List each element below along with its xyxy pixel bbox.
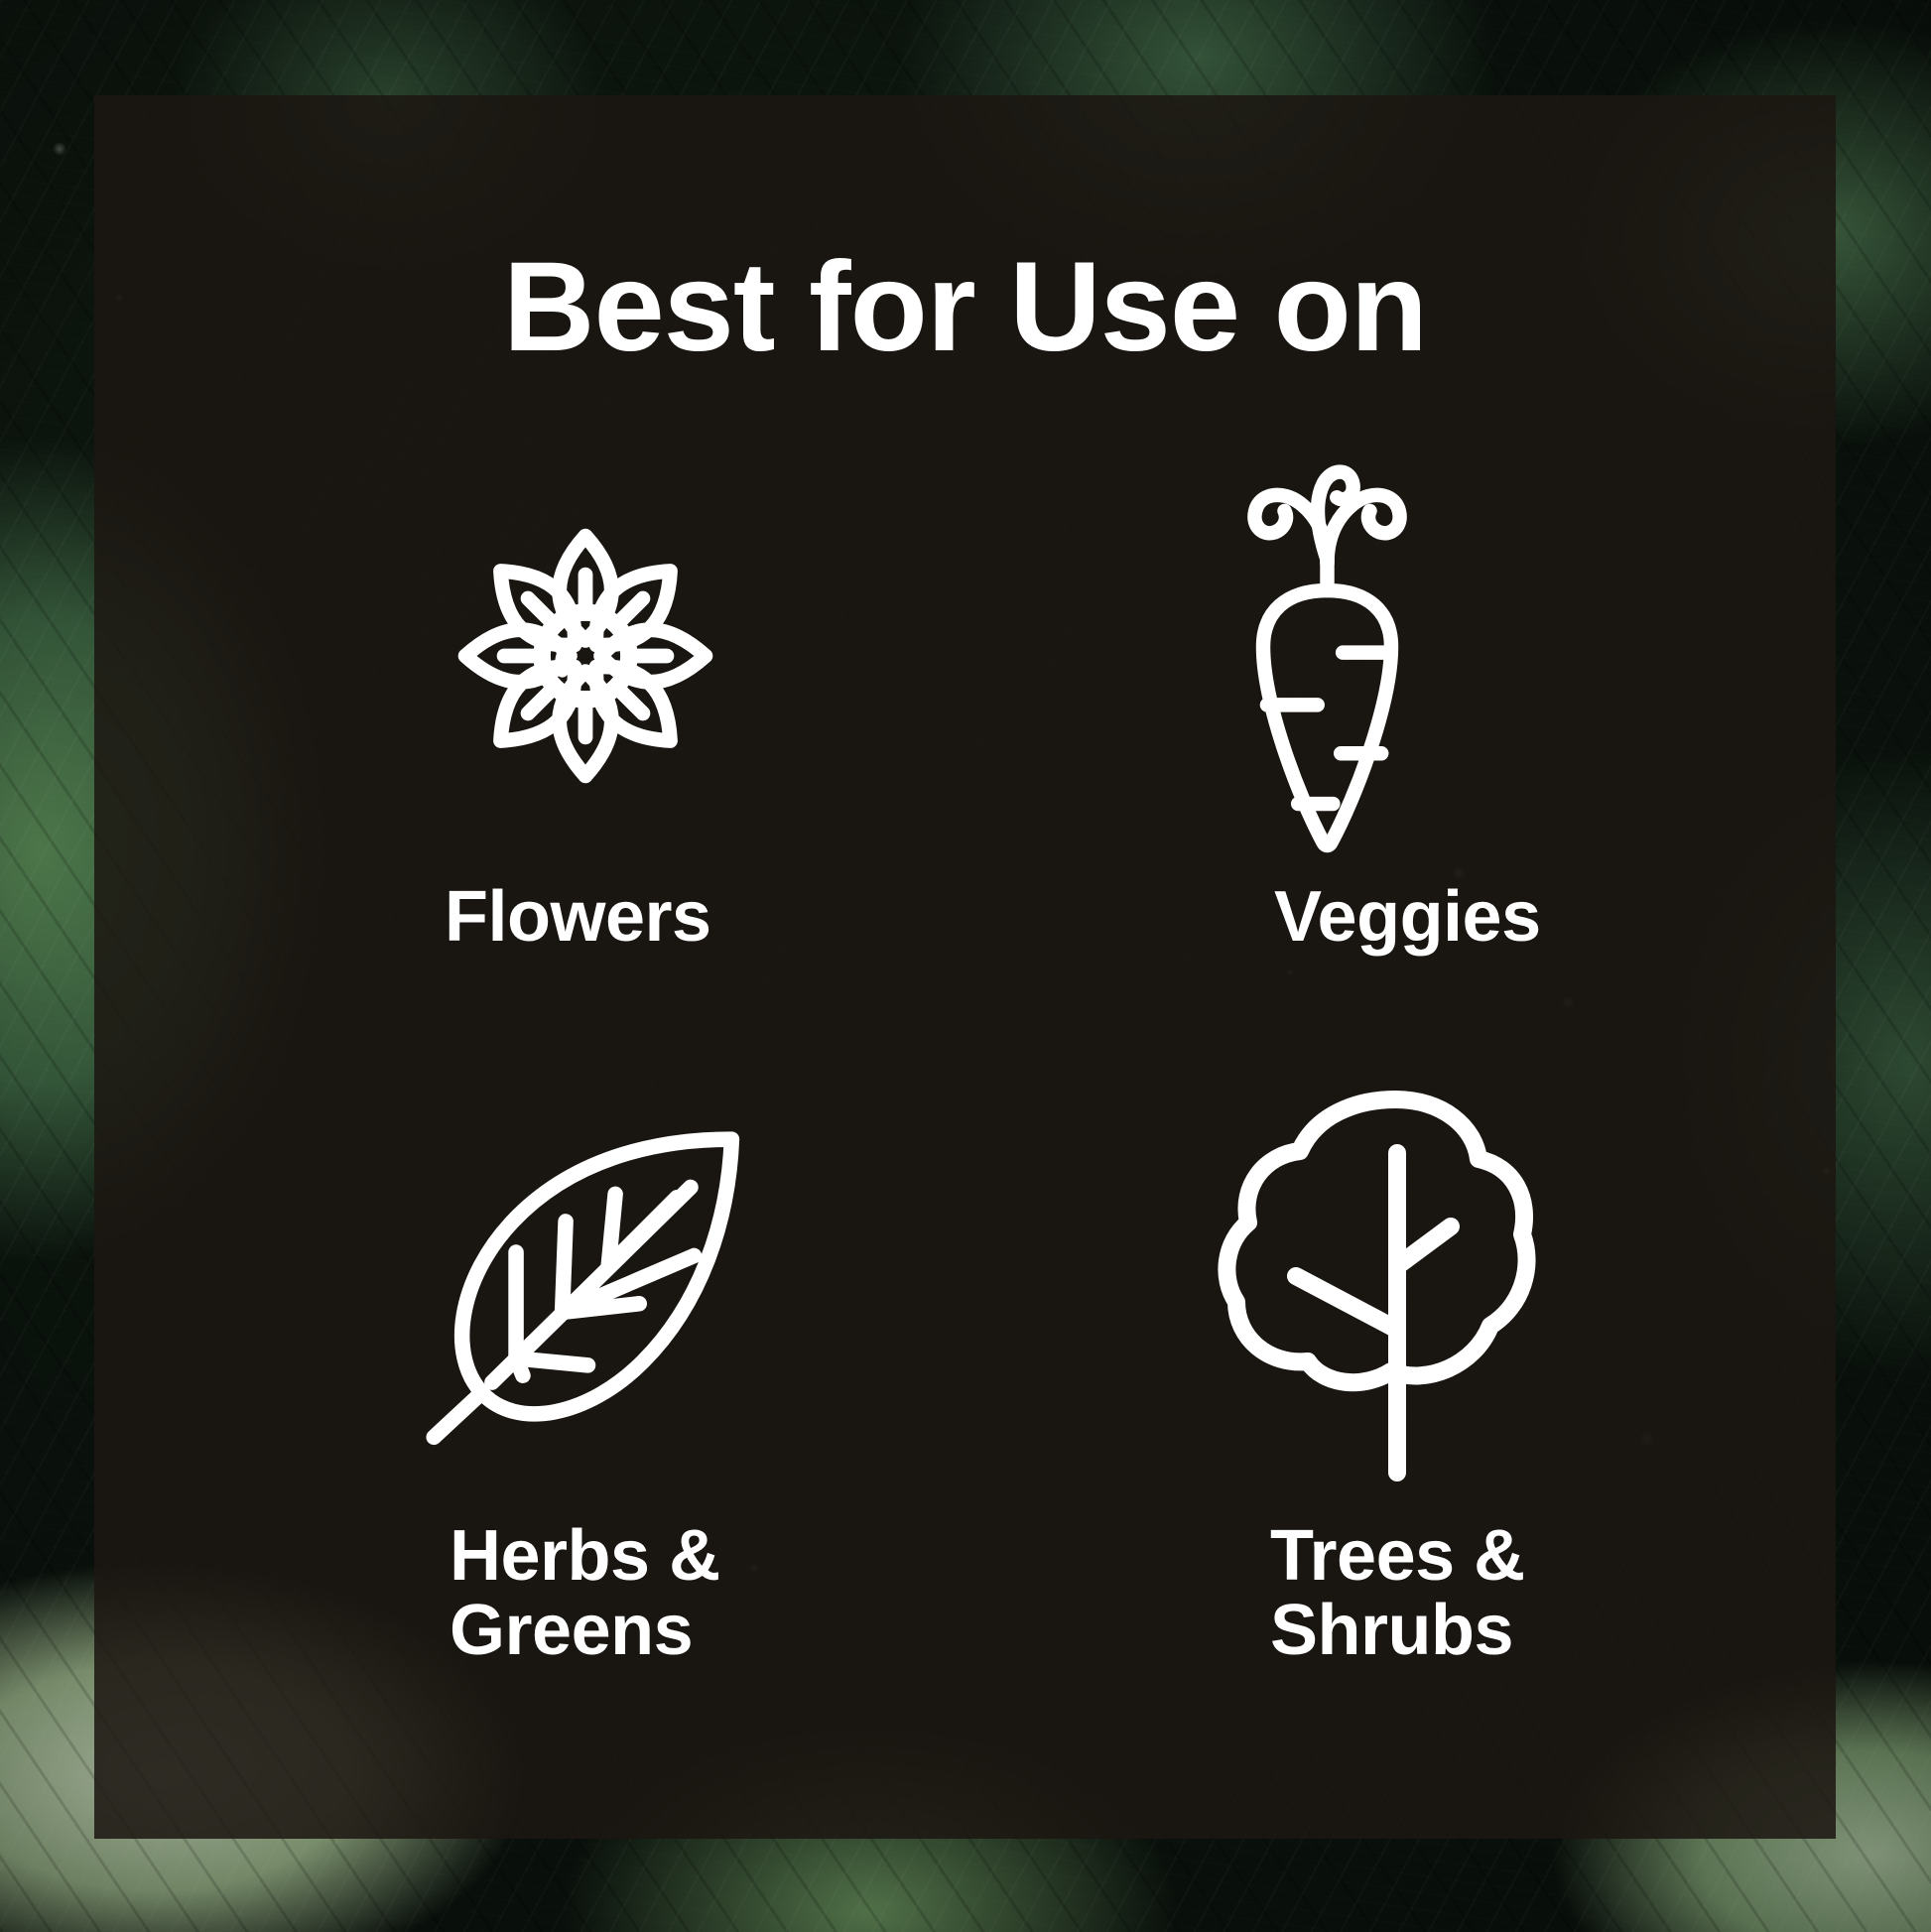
leaf-icon-wrap xyxy=(342,1073,1007,1499)
feature-cell-trees-shrubs: Trees & Shrubs xyxy=(1007,1073,1622,1708)
flower-icon-wrap xyxy=(342,438,1007,874)
tree-icon xyxy=(1221,1088,1538,1484)
feature-label-flowers: Flowers xyxy=(445,880,1007,955)
carrot-icon-wrap xyxy=(1007,438,1622,874)
leaf-icon xyxy=(417,1115,759,1458)
promo-graphic: Best for Use on xyxy=(0,0,1931,1932)
feature-label-trees-shrubs: Trees & Shrubs xyxy=(1270,1519,1622,1668)
carrot-icon xyxy=(1221,451,1434,862)
page-title: Best for Use on xyxy=(94,244,1836,371)
feature-label-veggies: Veggies xyxy=(1274,880,1622,955)
feature-label-herbs-greens: Herbs & Greens xyxy=(450,1519,1007,1668)
flower-icon xyxy=(392,462,779,849)
feature-cell-flowers: Flowers xyxy=(342,438,1007,1073)
dark-overlay-panel: Best for Use on xyxy=(94,95,1836,1839)
feature-cell-herbs-greens: Herbs & Greens xyxy=(342,1073,1007,1708)
feature-cell-veggies: Veggies xyxy=(1007,438,1622,1073)
tree-icon-wrap xyxy=(1007,1073,1622,1499)
feature-grid: Flowers xyxy=(342,438,1622,1708)
